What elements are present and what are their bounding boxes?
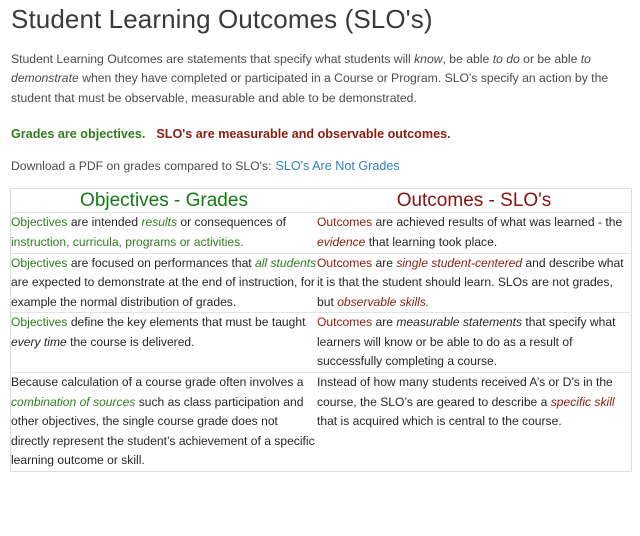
text-segment: combination of sources [11, 395, 135, 409]
text-segment: are focused on performances that [67, 256, 255, 270]
intro-text-2: , be able [443, 52, 493, 66]
cell-objectives-4: Because calculation of a course grade of… [11, 373, 318, 472]
page-container: Student Learning Outcomes (SLO's) Studen… [0, 5, 640, 472]
comparison-table-body: Objectives - Grades Outcomes - SLO's Obj… [11, 188, 632, 471]
intro-text-1: Student Learning Outcomes are statements… [11, 52, 414, 66]
text-segment: are achieved results of what was learned… [372, 215, 622, 229]
column-header-outcomes: Outcomes - SLO's [317, 189, 631, 213]
tagline-period: . [447, 127, 451, 141]
text-segment: Objectives [11, 315, 67, 329]
table-row: Objectives are intended results or conse… [11, 213, 632, 253]
cell-objectives-2: Objectives are focused on performances t… [11, 253, 318, 313]
cell-objectives-3: Objectives define the key elements that … [11, 313, 318, 373]
download-line: Download a PDF on grades compared to SLO… [11, 157, 630, 176]
text-segment: results [141, 215, 177, 229]
text-segment: are [372, 315, 396, 329]
text-segment: Because calculation of a course grade of… [11, 375, 303, 389]
intro-emphasis-todo: to do [493, 52, 520, 66]
cell-outcomes-3: Outcomes are measurable statements that … [317, 313, 632, 373]
text-segment: are intended [67, 215, 141, 229]
cell-objectives-1: Objectives are intended results or conse… [11, 213, 318, 253]
text-segment: define the key elements that must be tau… [67, 315, 305, 329]
table-row: Objectives define the key elements that … [11, 313, 632, 373]
text-segment: or consequences of [177, 215, 286, 229]
tagline-green: Grades are objectives. [11, 127, 145, 141]
download-label: Download a PDF on grades compared to SLO… [11, 159, 271, 173]
cell-outcomes-2: Outcomes are single student-centered and… [317, 253, 632, 313]
intro-paragraph: Student Learning Outcomes are statements… [11, 50, 630, 109]
tagline-red: SLO's are measurable and observable outc… [156, 127, 447, 141]
text-segment: observable skills. [337, 295, 429, 309]
text-segment: that is acquired which is central to the… [317, 414, 562, 428]
intro-text-3: or be able [520, 52, 581, 66]
text-segment: Outcomes [317, 256, 372, 270]
text-segment: every time [11, 335, 67, 349]
text-segment: evidence [317, 235, 365, 249]
text-segment: Outcomes [317, 215, 372, 229]
text-segment: instruction, curricula, programs or acti… [11, 235, 244, 249]
text-segment: the course is delivered. [67, 335, 195, 349]
text-segment: are expected to demonstrate at the end o… [11, 275, 315, 309]
comparison-table: Objectives - Grades Outcomes - SLO's Obj… [10, 188, 632, 472]
table-row: Objectives are focused on performances t… [11, 253, 632, 313]
page-title: Student Learning Outcomes (SLO's) [11, 5, 630, 34]
table-header-row: Objectives - Grades Outcomes - SLO's [11, 188, 632, 213]
slo-not-grades-link[interactable]: SLO's Are Not Grades [275, 159, 399, 173]
cell-outcomes-1: Outcomes are achieved results of what wa… [317, 213, 632, 253]
text-segment: are [372, 256, 396, 270]
text-segment: measurable statements [396, 315, 522, 329]
cell-outcomes-4: Instead of how many students received A’… [317, 373, 632, 472]
text-segment: Objectives [11, 215, 67, 229]
header-cell-outcomes: Outcomes - SLO's [317, 188, 632, 213]
text-segment: Outcomes [317, 315, 372, 329]
text-segment: single student-centered [396, 256, 522, 270]
text-segment: specific skill [551, 395, 615, 409]
table-row: Because calculation of a course grade of… [11, 373, 632, 472]
column-header-objectives: Objectives - Grades [11, 189, 317, 213]
tagline: Grades are objectives.SLO's are measurab… [11, 125, 630, 144]
text-segment: Objectives [11, 256, 67, 270]
header-cell-objectives: Objectives - Grades [11, 188, 318, 213]
text-segment: all students [255, 256, 316, 270]
intro-text-4: when they have completed or participated… [11, 71, 608, 105]
text-segment: that learning took place. [365, 235, 497, 249]
intro-emphasis-know: know [414, 52, 442, 66]
